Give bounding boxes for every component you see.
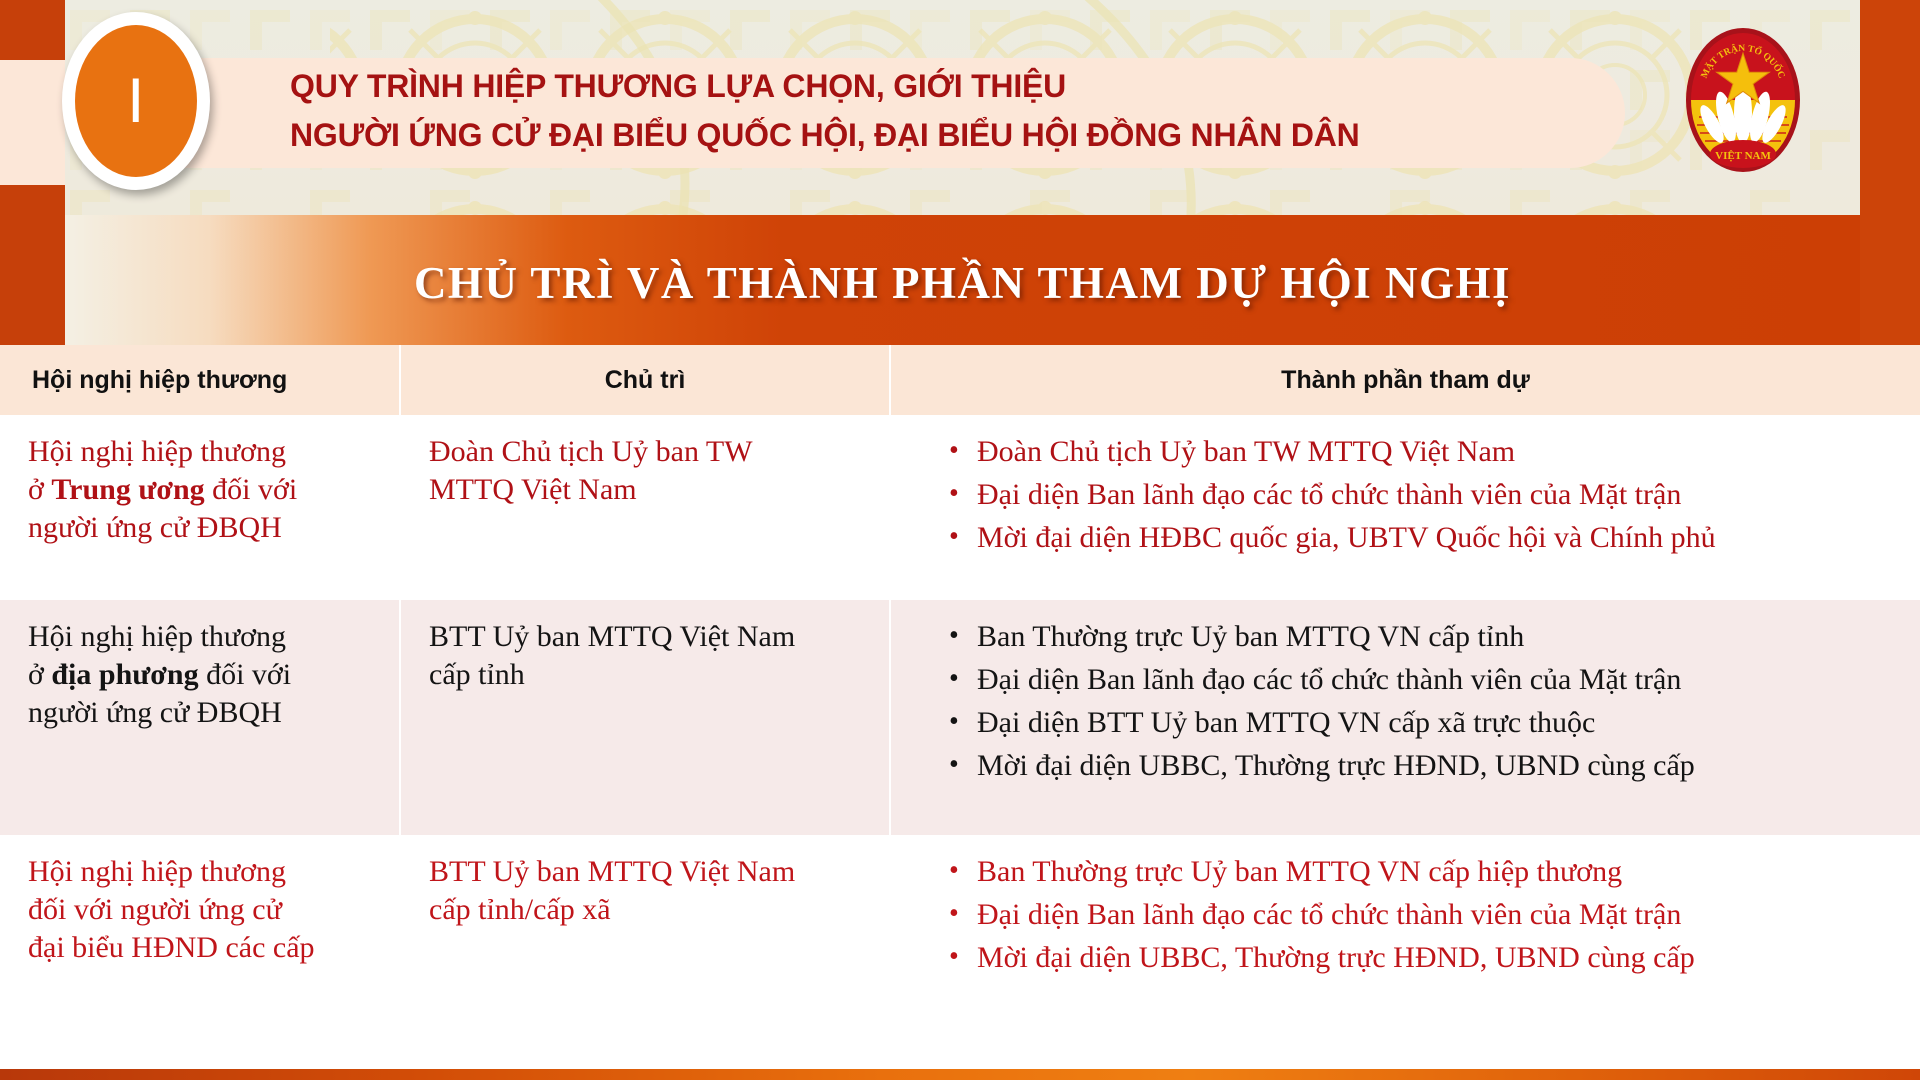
list-item: Mời đại diện HĐBC quốc gia, UBTV Quốc hộ… — [949, 519, 1904, 557]
cell-participants: Ban Thường trực Uỷ ban MTTQ VN cấp hiệp … — [890, 835, 1920, 1020]
bottom-accent-strip — [0, 1069, 1920, 1080]
conference-line-2-post: đối với — [199, 658, 292, 691]
conference-line-3: người ứng cử ĐBQH — [28, 694, 383, 732]
list-item: Mời đại diện UBBC, Thường trực HĐND, UBN… — [949, 939, 1904, 977]
list-item: Đoàn Chủ tịch Uỷ ban TW MTTQ Việt Nam — [949, 433, 1904, 471]
chair-line-1: Đoàn Chủ tịch Uỷ ban TW — [429, 433, 873, 471]
left-accent-bar-top — [0, 0, 65, 60]
column-header-conference: Hội nghị hiệp thương — [0, 345, 400, 415]
chair-line-1: BTT Uỷ ban MTTQ Việt Nam — [429, 853, 873, 891]
section-banner-text: CHỦ TRÌ VÀ THÀNH PHẦN THAM DỰ HỘI NGHỊ — [414, 251, 1511, 309]
cell-participants: Đoàn Chủ tịch Uỷ ban TW MTTQ Việt Nam Đạ… — [890, 415, 1920, 600]
section-number-badge: I — [62, 12, 210, 190]
conference-line-2: ở Trung ương đối với — [28, 471, 383, 509]
conference-table: Hội nghị hiệp thương Chủ trì Thành phần … — [0, 345, 1920, 1020]
participants-list: Đoàn Chủ tịch Uỷ ban TW MTTQ Việt Nam Đạ… — [919, 433, 1904, 557]
conference-line-2-emphasis: địa phương — [51, 658, 198, 691]
participants-list: Ban Thường trực Uỷ ban MTTQ VN cấp tỉnh … — [919, 618, 1904, 785]
conference-line-2: đối với người ứng cử — [28, 891, 383, 929]
mttq-vietnam-emblem-icon: VIỆT NAM MẶT TRẬN TỔ QUỐC — [1683, 25, 1803, 175]
conference-line-2-post: đối với — [205, 473, 298, 506]
list-item: Đại diện Ban lãnh đạo các tổ chức thành … — [949, 661, 1904, 699]
table-row: Hội nghị hiệp thương ở địa phương đối vớ… — [0, 600, 1920, 835]
table-row: Hội nghị hiệp thương ở Trung ương đối vớ… — [0, 415, 1920, 600]
slide-title-line-2: NGƯỜI ỨNG CỬ ĐẠI BIỂU QUỐC HỘI, ĐẠI BIỂU… — [290, 111, 1570, 160]
conference-line-3: đại biểu HĐND các cấp — [28, 929, 383, 967]
chair-line-2: cấp tỉnh/cấp xã — [429, 891, 873, 929]
slide-root: I QUY TRÌNH HIỆP THƯƠNG LỰA CHỌN, GIỚI T… — [0, 0, 1920, 1080]
conference-line-2-pre: ở — [28, 473, 51, 506]
conference-line-1: Hội nghị hiệp thương — [28, 433, 383, 471]
cell-conference: Hội nghị hiệp thương ở địa phương đối vớ… — [0, 600, 400, 835]
left-accent-bar-middle — [0, 60, 65, 185]
conference-line-2: ở địa phương đối với — [28, 656, 383, 694]
chair-line-2: cấp tỉnh — [429, 656, 873, 694]
right-accent-bar — [1860, 0, 1920, 345]
cell-conference: Hội nghị hiệp thương đối với người ứng c… — [0, 835, 400, 1020]
chair-line-1: BTT Uỷ ban MTTQ Việt Nam — [429, 618, 873, 656]
list-item: Mời đại diện UBBC, Thường trực HĐND, UBN… — [949, 747, 1904, 785]
conference-line-3: người ứng cử ĐBQH — [28, 509, 383, 547]
list-item: Đại diện Ban lãnh đạo các tổ chức thành … — [949, 896, 1904, 934]
table-zone: Hội nghị hiệp thương Chủ trì Thành phần … — [0, 345, 1920, 1060]
participants-list: Ban Thường trực Uỷ ban MTTQ VN cấp hiệp … — [919, 853, 1904, 977]
slide-title: QUY TRÌNH HIỆP THƯƠNG LỰA CHỌN, GIỚI THI… — [290, 62, 1570, 160]
header-zone: I QUY TRÌNH HIỆP THƯƠNG LỰA CHỌN, GIỚI T… — [0, 0, 1920, 345]
slide-title-line-1: QUY TRÌNH HIỆP THƯƠNG LỰA CHỌN, GIỚI THI… — [290, 62, 1570, 111]
cell-chair: Đoàn Chủ tịch Uỷ ban TW MTTQ Việt Nam — [400, 415, 890, 600]
conference-line-1: Hội nghị hiệp thương — [28, 618, 383, 656]
chair-line-2: MTTQ Việt Nam — [429, 471, 873, 509]
conference-line-2-pre: ở — [28, 658, 51, 691]
cell-conference: Hội nghị hiệp thương ở Trung ương đối vớ… — [0, 415, 400, 600]
conference-line-1: Hội nghị hiệp thương — [28, 853, 383, 891]
section-banner: CHỦ TRÌ VÀ THÀNH PHẦN THAM DỰ HỘI NGHỊ — [65, 215, 1860, 345]
table-row: Hội nghị hiệp thương đối với người ứng c… — [0, 835, 1920, 1020]
list-item: Ban Thường trực Uỷ ban MTTQ VN cấp hiệp … — [949, 853, 1904, 891]
left-accent-bar-bottom — [0, 185, 65, 345]
conference-line-2-emphasis: Trung ương — [51, 473, 204, 506]
emblem-bottom-text: VIỆT NAM — [1715, 149, 1771, 162]
column-header-participants: Thành phần tham dự — [890, 345, 1920, 415]
list-item: Đại diện BTT Uỷ ban MTTQ VN cấp xã trực … — [949, 704, 1904, 742]
cell-chair: BTT Uỷ ban MTTQ Việt Nam cấp tỉnh — [400, 600, 890, 835]
section-number-label: I — [62, 12, 210, 190]
cell-chair: BTT Uỷ ban MTTQ Việt Nam cấp tỉnh/cấp xã — [400, 835, 890, 1020]
cell-participants: Ban Thường trực Uỷ ban MTTQ VN cấp tỉnh … — [890, 600, 1920, 835]
column-header-chair: Chủ trì — [400, 345, 890, 415]
list-item: Đại diện Ban lãnh đạo các tổ chức thành … — [949, 476, 1904, 514]
table-header-row: Hội nghị hiệp thương Chủ trì Thành phần … — [0, 345, 1920, 415]
list-item: Ban Thường trực Uỷ ban MTTQ VN cấp tỉnh — [949, 618, 1904, 656]
